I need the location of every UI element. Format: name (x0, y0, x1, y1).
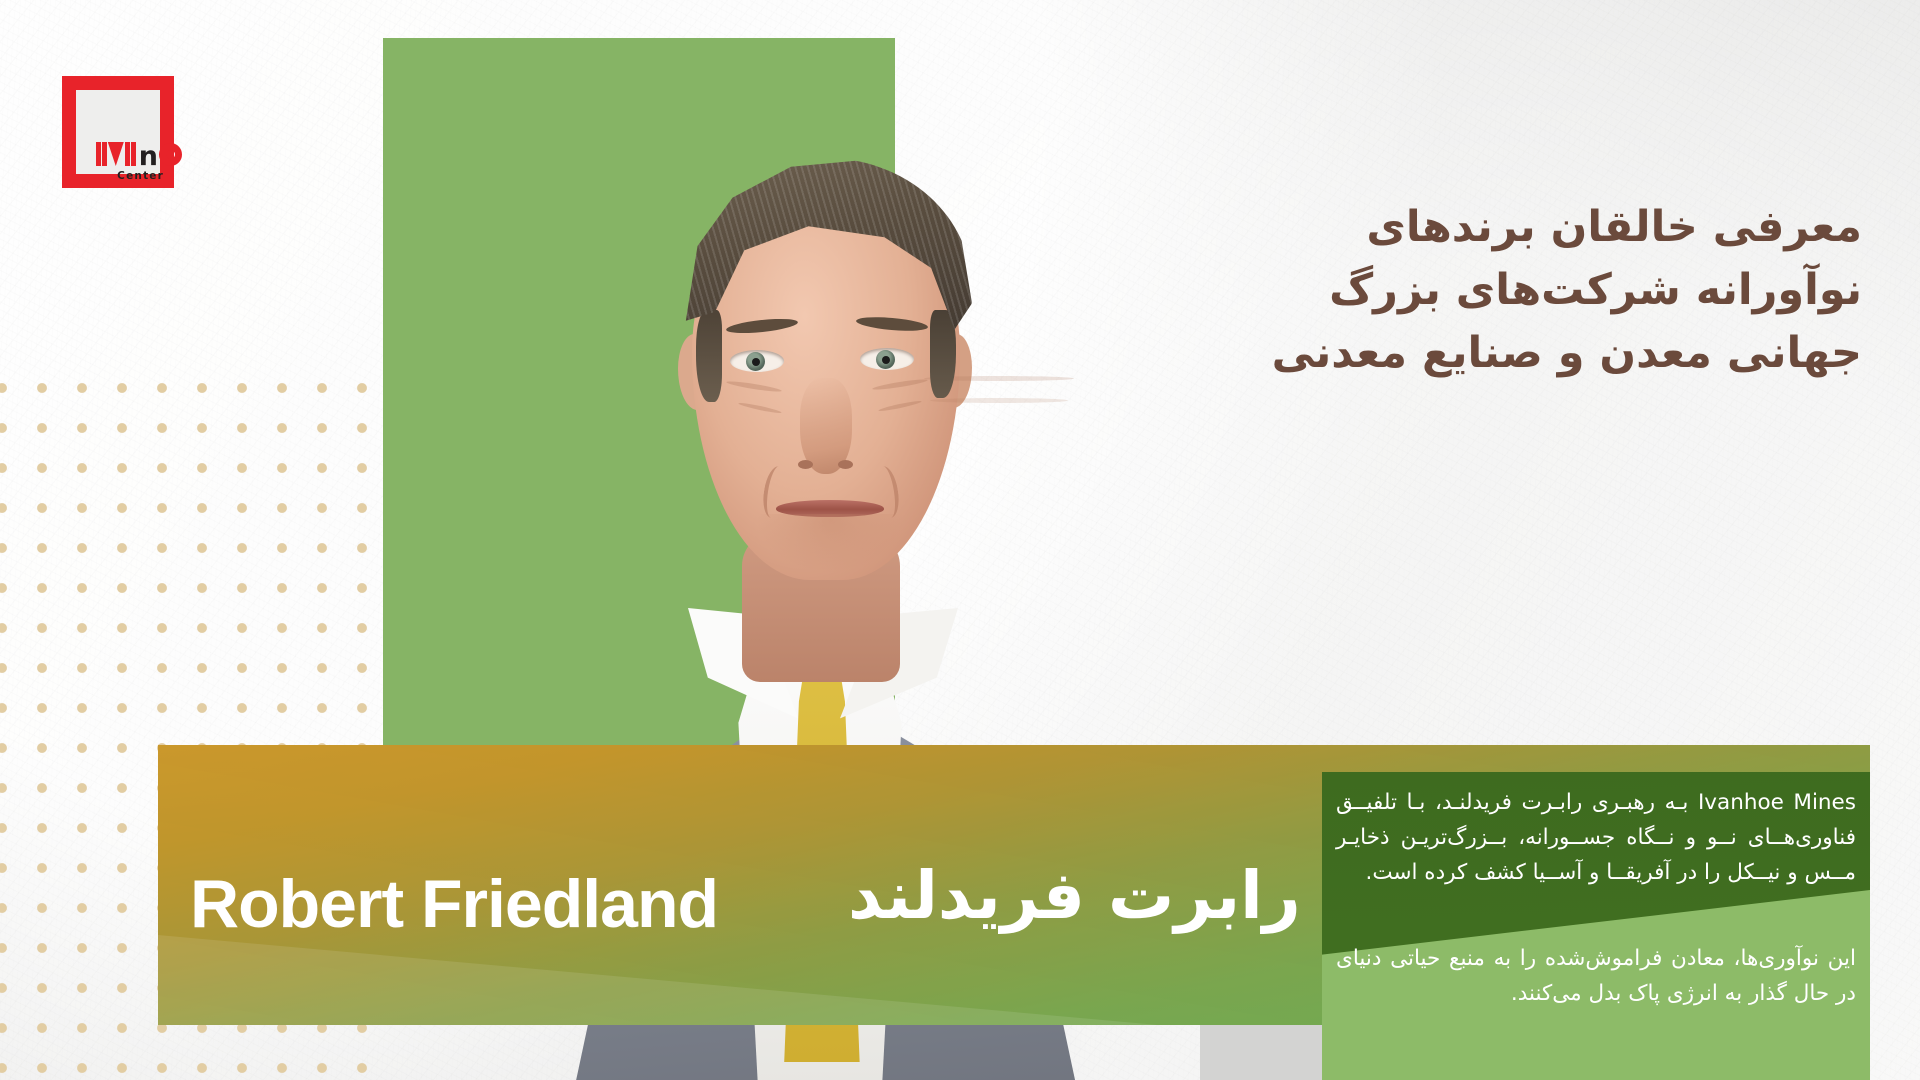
portrait-iris-right (876, 350, 895, 369)
portrait-eye-left (730, 350, 784, 372)
headline-line-1: معرفی خالقان برندهای (1102, 196, 1862, 259)
logo-bar-1 (96, 142, 101, 166)
logo-bar-2 (102, 142, 107, 166)
logo-letter-o-ring (159, 143, 182, 166)
logo-subtitle: Center (117, 170, 164, 182)
portrait-pupil-left (752, 358, 760, 366)
portrait-iris-left (746, 352, 765, 371)
portrait-forehead-line-2 (930, 398, 1068, 403)
headline-line-3: جهانی معدن و صنایع معدنی (1102, 322, 1862, 385)
portrait-pupil-right (882, 356, 890, 364)
logo-triangle-icon (108, 142, 124, 166)
portrait-nostril-left (798, 460, 813, 469)
subject-name-persian: رابرت فریدلند (848, 857, 1301, 934)
description-panel: Ivanhoe Mines بـه رهبـری رابـرت فریدلنـد… (1322, 772, 1870, 1080)
logo-bar-4 (131, 142, 136, 166)
portrait-nostril-right (838, 460, 853, 469)
logo-letter-n: n (139, 143, 157, 170)
logo-wordmark: n (96, 142, 182, 166)
portrait-chin-shadow (758, 514, 902, 572)
portrait-sideburn-left (696, 310, 722, 402)
page-headline: معرفی خالقان برندهای نوآورانه شرکت‌های ب… (1102, 196, 1862, 384)
subject-name-english: Robert Friedland (190, 865, 718, 943)
logo-bar-3 (125, 142, 130, 166)
description-paragraph-1: Ivanhoe Mines بـه رهبـری رابـرت فریدلنـد… (1336, 786, 1856, 890)
logo-inner-frame: n Center (76, 90, 160, 174)
description-paragraph-2: این نوآوری‌ها، معادن فراموش‌شده را به من… (1336, 942, 1856, 1012)
poster-canvas: n Center معرفی خالقان برندهای نوآورانه ش… (0, 0, 1920, 1080)
headline-line-2: نوآورانه شرکت‌های بزرگ (1102, 259, 1862, 322)
portrait-eye-right (860, 348, 914, 370)
imino-center-logo[interactable]: n Center (62, 76, 174, 188)
